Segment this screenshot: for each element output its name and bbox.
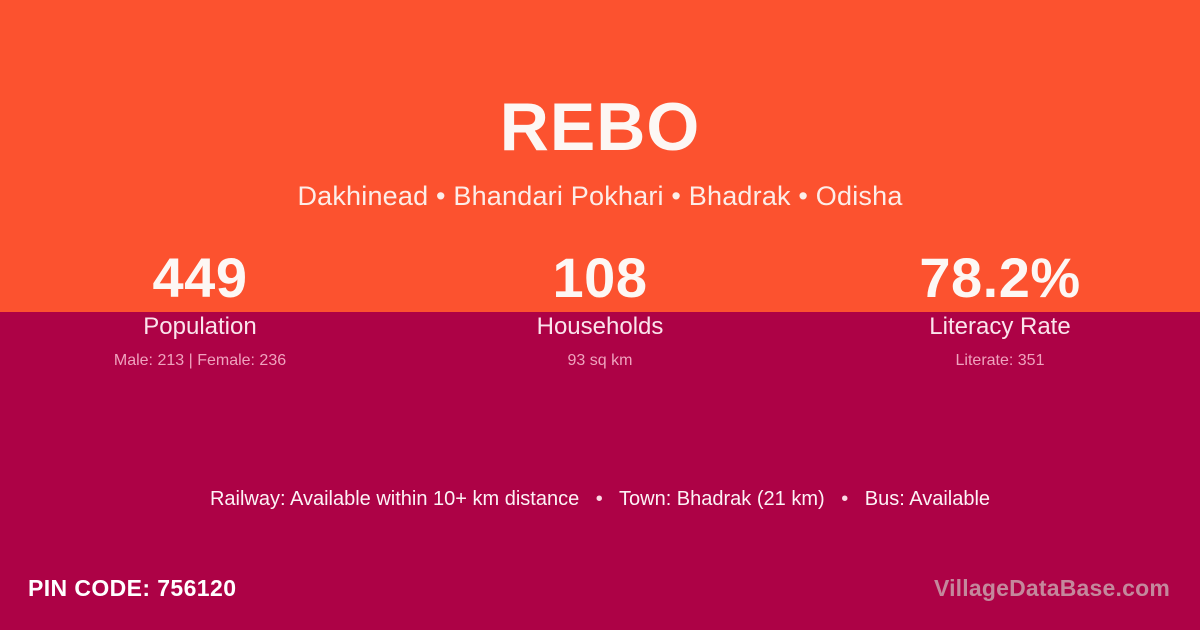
footer: PIN CODE: 756120 VillageDataBase.com bbox=[0, 558, 1200, 630]
stat-sub-population: Male: 213 | Female: 236 bbox=[0, 351, 400, 371]
stats-row: 449 Population Male: 213 | Female: 236 1… bbox=[0, 244, 1200, 371]
stat-card-population: 449 Population Male: 213 | Female: 236 bbox=[0, 244, 400, 371]
site-brand: VillageDataBase.com bbox=[934, 574, 1170, 602]
header: REBO Dakhinead • Bhandari Pokhari • Bhad… bbox=[0, 0, 1200, 212]
stat-sub-households: 93 sq km bbox=[400, 351, 800, 371]
stat-card-literacy: 78.2% Literacy Rate Literate: 351 bbox=[800, 244, 1200, 371]
stat-sub-literacy: Literate: 351 bbox=[800, 351, 1200, 371]
infra-railway: Railway: Available within 10+ km distanc… bbox=[210, 488, 579, 510]
stat-value-households: 108 bbox=[400, 244, 800, 312]
page-title: REBO bbox=[0, 86, 1200, 168]
infra-bus: Bus: Available bbox=[865, 488, 990, 510]
stat-value-population: 449 bbox=[0, 244, 400, 312]
stat-label-literacy: Literacy Rate bbox=[800, 312, 1200, 342]
pin-code: PIN CODE: 756120 bbox=[28, 574, 236, 602]
stat-label-population: Population bbox=[0, 312, 400, 342]
stat-card-households: 108 Households 93 sq km bbox=[400, 244, 800, 371]
infra-town: Town: Bhadrak (21 km) bbox=[619, 488, 825, 510]
infrastructure-row: Railway: Available within 10+ km distanc… bbox=[0, 485, 1200, 513]
breadcrumb: Dakhinead • Bhandari Pokhari • Bhadrak •… bbox=[0, 180, 1200, 212]
stat-label-households: Households bbox=[400, 312, 800, 342]
stat-value-literacy: 78.2% bbox=[800, 244, 1200, 312]
infra-separator-1: • bbox=[585, 485, 614, 513]
infra-separator-2: • bbox=[830, 485, 859, 513]
